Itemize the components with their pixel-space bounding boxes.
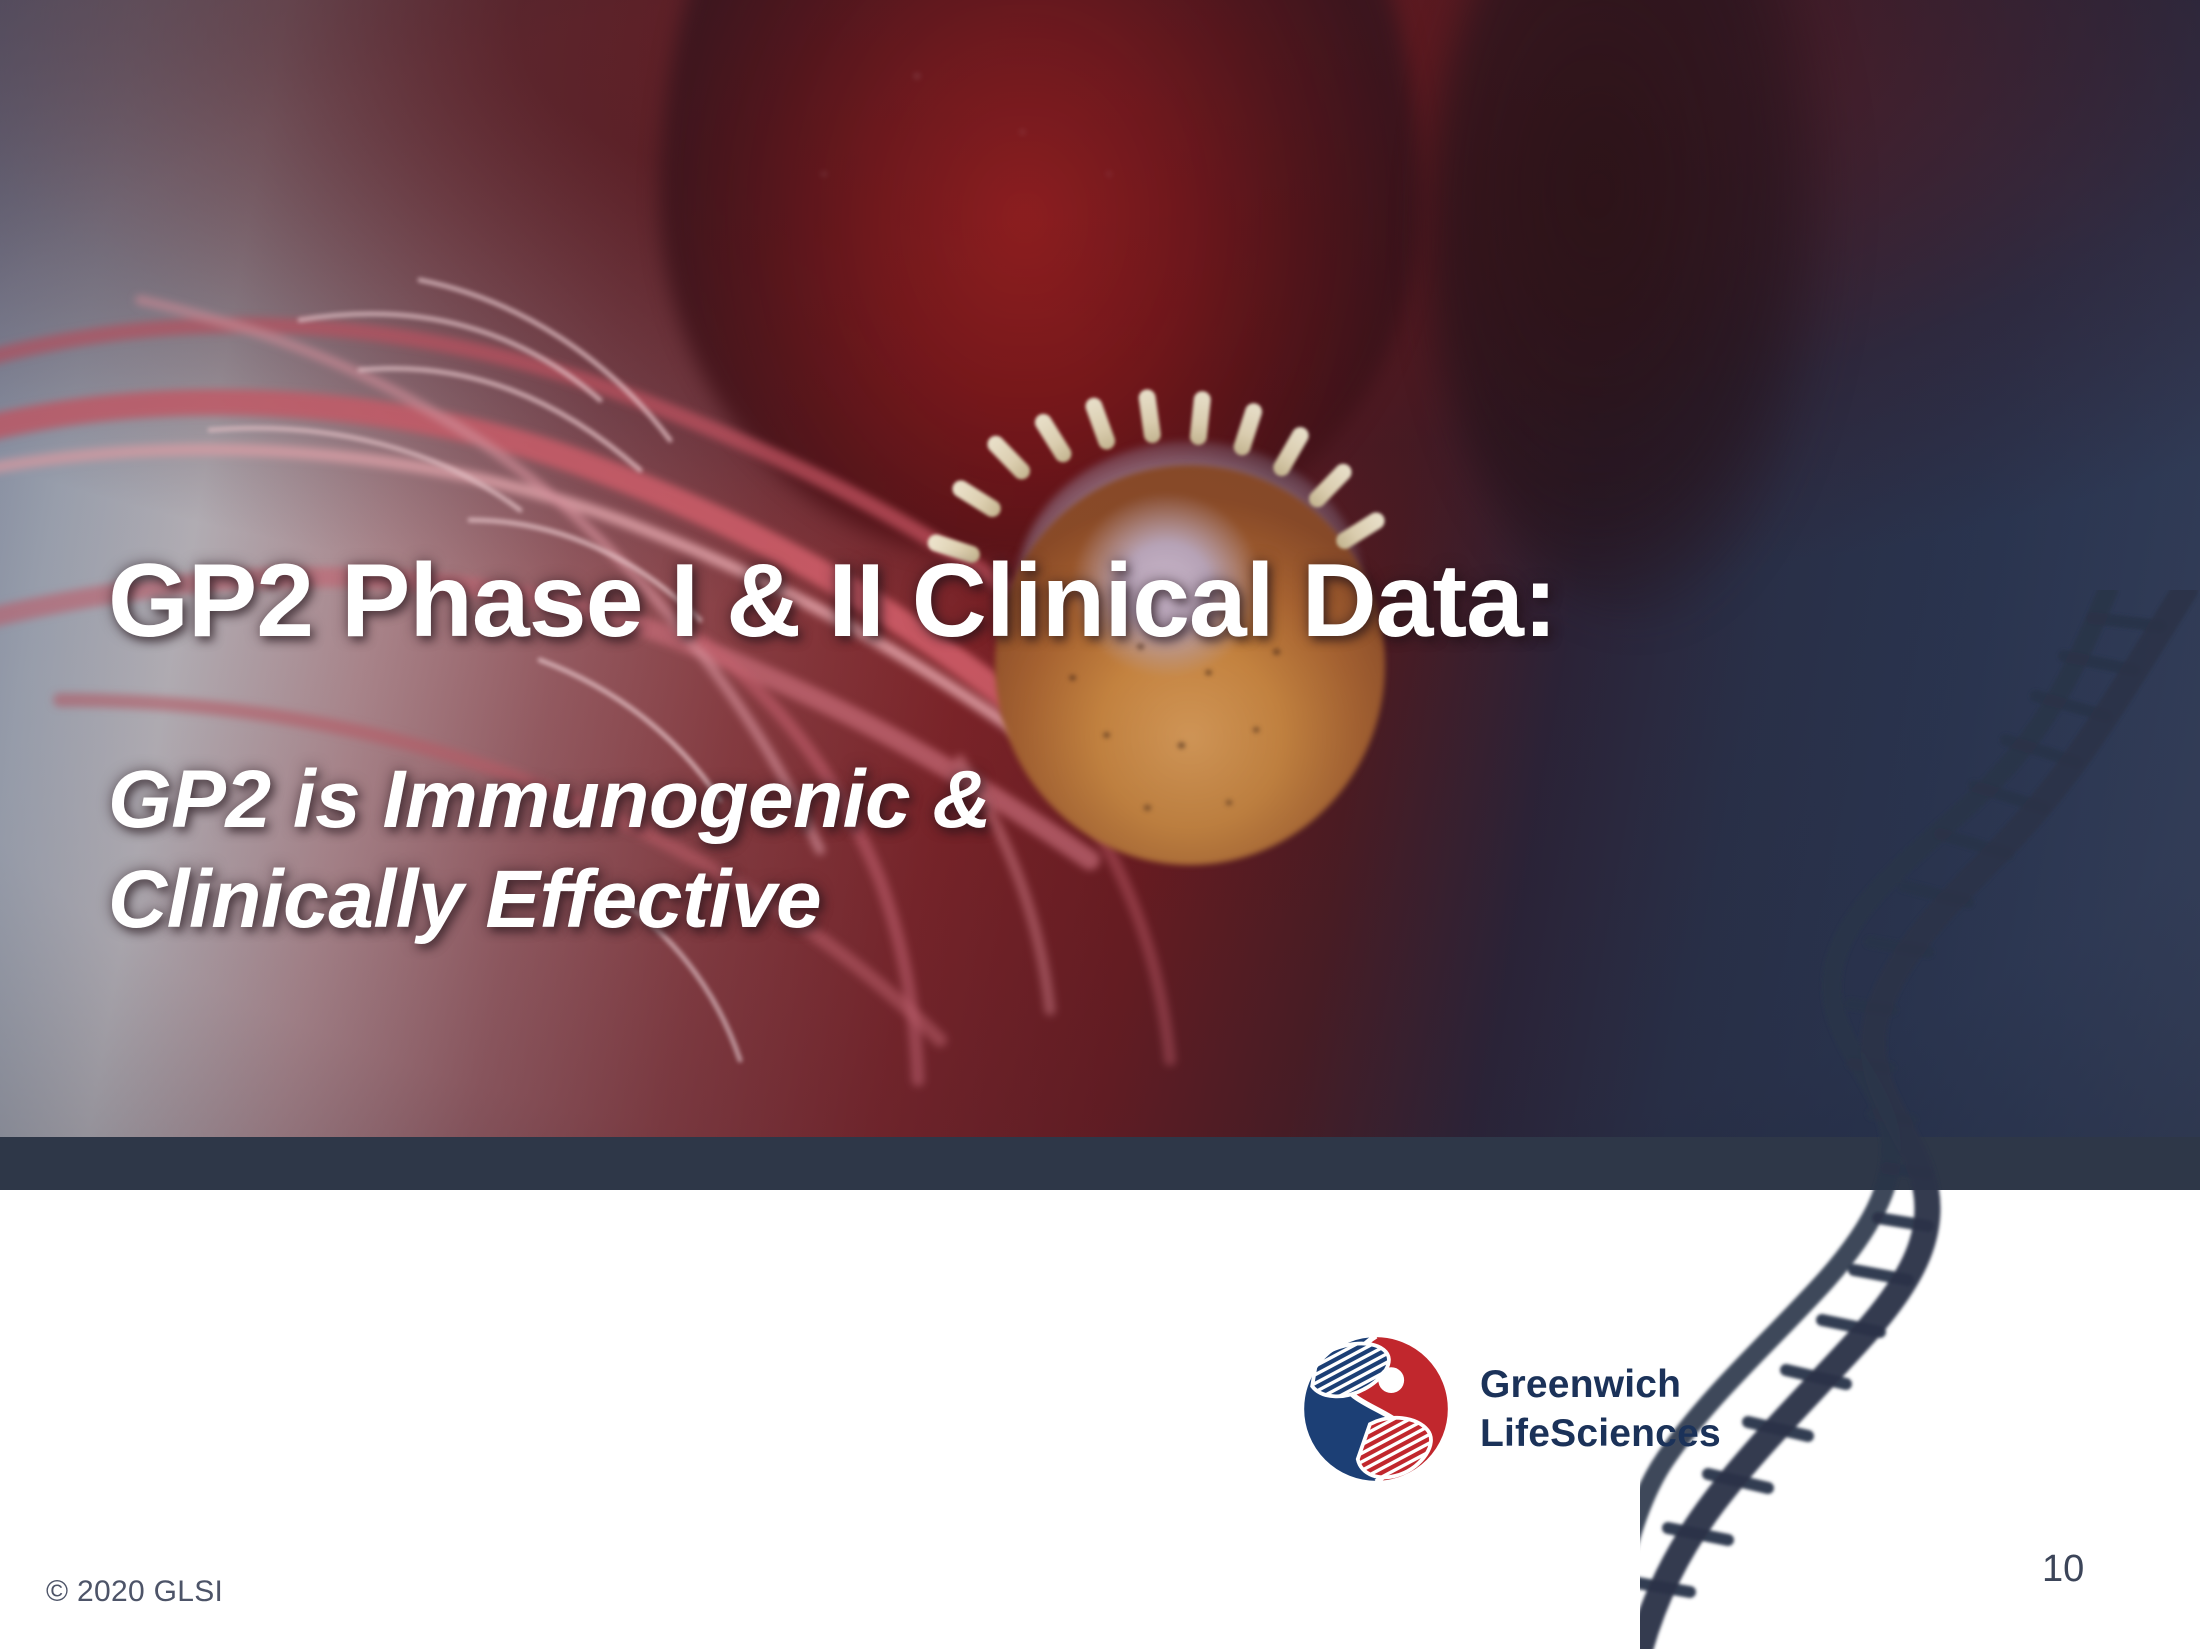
copyright-notice: © 2020 GLSI [46, 1575, 223, 1609]
title-block: GP2 Phase I & II Clinical Data: GP2 is I… [108, 546, 1888, 950]
company-name-line-2: LifeSciences [1480, 1409, 1721, 1458]
company-name-line-1: Greenwich [1480, 1360, 1721, 1409]
subtitle-line-2: Clinically Effective [108, 850, 1888, 950]
subtitle-line-1: GP2 is Immunogenic & [108, 754, 991, 845]
page-subtitle: GP2 is Immunogenic & Clinically Effectiv… [108, 656, 1888, 950]
footer-panel [0, 1190, 2200, 1649]
greenwich-dna-circle-logo-icon [1300, 1333, 1452, 1485]
page-number: 10 [2042, 1548, 2084, 1591]
slide: GP2 Phase I & II Clinical Data: GP2 is I… [0, 0, 2200, 1649]
divider-bar [0, 1137, 2200, 1193]
company-logo: Greenwich LifeSciences [1300, 1333, 1721, 1485]
company-name: Greenwich LifeSciences [1480, 1360, 1721, 1458]
page-title: GP2 Phase I & II Clinical Data: [108, 546, 1888, 656]
